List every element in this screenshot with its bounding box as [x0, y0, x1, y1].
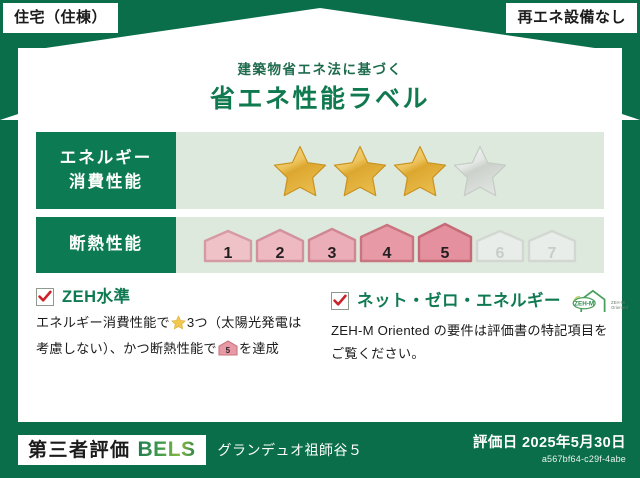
insulation-grade-filled: 3	[307, 227, 357, 268]
info-column-nze: ネット・ゼロ・エネルギー ZEH-M ZEH-M Oriented	[331, 288, 608, 365]
zeh-m-logo-caption: ZEH-M Oriented	[611, 300, 628, 315]
zeh-m-logo: ZEH-M ZEH-M Oriented	[571, 288, 628, 314]
zeh-heading: ZEH水準	[36, 288, 313, 306]
star-filled-icon	[331, 143, 389, 199]
check-icon	[333, 294, 347, 308]
house-shape-icon	[417, 222, 473, 263]
evaluation-date: 評価日 2025年5月30日	[473, 436, 626, 452]
insulation-grade-scale: 1234567	[203, 222, 577, 268]
zeh-m-caption-line1: ZEH-M	[611, 300, 625, 305]
performance-rows: エネルギー 消費性能 断熱性能 1234567	[36, 132, 604, 281]
zeh-description-part1: エネルギー消費性能で	[36, 315, 170, 330]
page-title: 省エネ性能ラベル	[18, 85, 622, 114]
info-columns: ZEH水準 エネルギー消費性能で 3つ（太陽光発電は考慮しない）、かつ断熱性能で…	[36, 288, 608, 365]
svg-text:ZEH-M: ZEH-M	[574, 301, 594, 308]
insulation-grade-filled: 1	[203, 229, 253, 268]
star-rating	[271, 143, 509, 199]
title-subtitle: 建築物省エネ法に基づく	[18, 62, 622, 78]
title-block: 建築物省エネ法に基づく 省エネ性能ラベル	[18, 62, 622, 114]
badge-building-type: 住宅（住棟）	[3, 3, 118, 33]
insulation-grade-empty: 7	[527, 229, 577, 268]
house-shape-icon	[475, 229, 525, 263]
row-energy-performance: エネルギー 消費性能	[36, 132, 604, 209]
property-name: グランデュオ祖師谷５	[218, 440, 473, 460]
zeh-title: ZEH水準	[62, 289, 131, 306]
row-energy-value	[176, 132, 604, 209]
zeh-m-house-icon: ZEH-M	[571, 288, 609, 314]
row-energy-label: エネルギー 消費性能	[36, 132, 176, 209]
house-shape-icon	[255, 228, 305, 263]
bels-certification-box: 第三者評価 BELS	[18, 435, 206, 465]
nze-description: ZEH-M Oriented の要件は評価書の特記項目をご覧ください。	[331, 320, 608, 365]
house-shape-icon	[359, 223, 415, 263]
inline-star-icon	[171, 315, 186, 338]
row-insulation-value: 1234567	[176, 217, 604, 273]
bels-logo-text: BELS	[138, 439, 196, 460]
info-column-zeh: ZEH水準 エネルギー消費性能で 3つ（太陽光発電は考慮しない）、かつ断熱性能で…	[36, 288, 313, 365]
row-insulation-label: 断熱性能	[36, 217, 176, 273]
star-filled-icon	[271, 143, 329, 199]
insulation-grade-filled: 2	[255, 228, 305, 268]
label-body-panel: 建築物省エネ法に基づく 省エネ性能ラベル エネルギー 消費性能 断熱性能	[18, 48, 622, 422]
zeh-description: エネルギー消費性能で 3つ（太陽光発電は考慮しない）、かつ断熱性能で 5 を達成	[36, 312, 313, 363]
bels-label-jp: 第三者評価	[28, 441, 131, 460]
house-shape-icon	[203, 229, 253, 263]
footer-bar: 第三者評価 BELS グランデュオ祖師谷５ 評価日 2025年5月30日 a56…	[0, 422, 640, 478]
insulation-grade-filled: 4	[359, 223, 415, 268]
bels-energy-label: 住宅（住棟） 再エネ設備なし 建築物省エネ法に基づく 省エネ性能ラベル エネルギ…	[0, 0, 640, 478]
badge-renewable-energy: 再エネ設備なし	[506, 3, 637, 33]
check-icon	[38, 290, 52, 304]
zeh-description-part3: を達成	[239, 341, 279, 356]
zeh-m-caption-line2: Oriented	[611, 305, 628, 310]
row-energy-label-line1: エネルギー	[60, 147, 153, 171]
row-insulation-label-line1: 断熱性能	[69, 233, 143, 257]
row-energy-label-line2: 消費性能	[69, 171, 143, 195]
star-filled-icon	[391, 143, 449, 199]
nze-title: ネット・ゼロ・エネルギー	[357, 293, 561, 310]
zeh-checkbox[interactable]	[36, 288, 54, 306]
evaluation-id: a567bf64-c29f-4abe	[473, 454, 626, 464]
inline-house-grade-icon: 5	[218, 340, 238, 364]
nze-checkbox[interactable]	[331, 292, 349, 310]
evaluation-info: 評価日 2025年5月30日 a567bf64-c29f-4abe	[473, 436, 626, 465]
star-empty-icon	[451, 143, 509, 199]
insulation-grade-filled: 5	[417, 222, 473, 268]
house-shape-icon	[307, 227, 357, 263]
nze-heading: ネット・ゼロ・エネルギー ZEH-M ZEH-M Oriented	[331, 288, 608, 314]
insulation-grade-empty: 6	[475, 229, 525, 268]
row-insulation-performance: 断熱性能 1234567	[36, 217, 604, 273]
svg-text:5: 5	[226, 346, 231, 355]
house-shape-icon	[527, 229, 577, 263]
